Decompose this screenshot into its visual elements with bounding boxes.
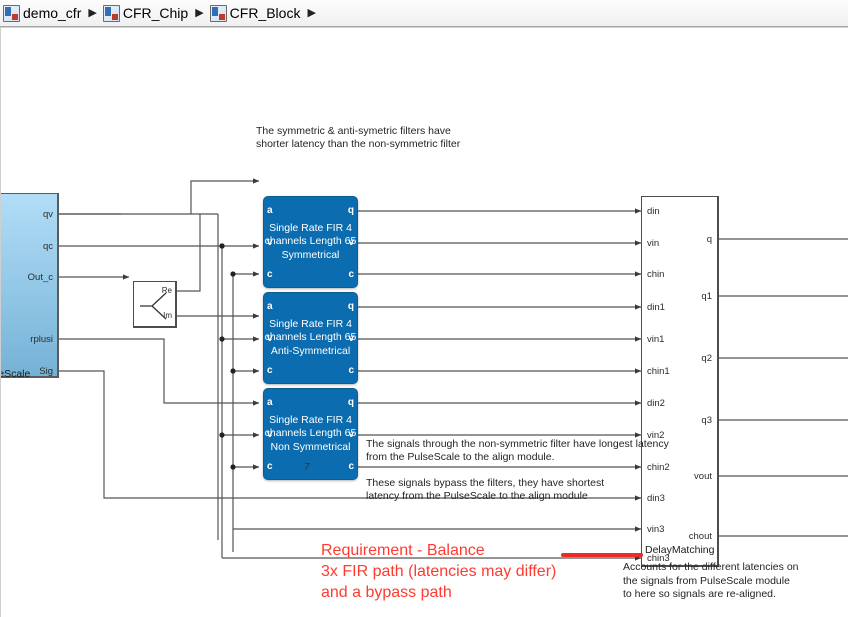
port-label-q3: q3: [701, 416, 712, 426]
breadcrumb-item-label: CFR_Block: [230, 5, 301, 21]
block-fir-non-symmetrical-text: Single Rate FIR 4 channels Length 65 Non…: [264, 414, 357, 455]
port-label-v-in: v: [267, 334, 273, 344]
port-label-c-in: c: [267, 366, 273, 376]
port-label-c-in: c: [267, 270, 273, 280]
port-label-chin2: chin2: [647, 463, 670, 473]
port-label-q1: q1: [701, 292, 712, 302]
port-label-q-out: q: [348, 302, 354, 312]
port-label-v-out: v: [348, 238, 354, 248]
block-caption-fir-non-symmetrical: 7: [304, 462, 310, 473]
port-label-vin: vin: [647, 239, 659, 249]
block-caption-delay-matching: DelayMatching: [645, 544, 714, 556]
block-pulse-scale[interactable]: qv qc Out_c rplusi Sig: [0, 193, 59, 378]
port-label-din3: din3: [647, 494, 665, 504]
port-label-vin1: vin1: [647, 335, 664, 345]
block-fir-non-symmetrical[interactable]: Single Rate FIR 4 channels Length 65 Non…: [263, 388, 358, 480]
complex-split-glyph: [138, 288, 174, 324]
port-label-vout: vout: [694, 472, 712, 482]
block-complex-to-real-imag[interactable]: Re Im: [133, 281, 177, 328]
annotation-filter-latency: The symmetric & anti-symetric filters ha…: [256, 125, 460, 151]
port-label-c-out: c: [348, 462, 354, 472]
simulink-model-icon: [3, 5, 20, 22]
port-label-out_c: Out_c: [28, 273, 53, 283]
port-label-v-in: v: [267, 430, 273, 440]
annotation-bypass-latency: These signals bypass the filters, they h…: [366, 477, 604, 503]
breadcrumb-item-cfr_chip[interactable]: CFR_Chip ▶: [103, 0, 210, 26]
port-label-rplusi: rplusi: [30, 335, 53, 345]
chevron-right-icon: ▶: [195, 8, 203, 19]
port-label-sig: Sig: [39, 367, 53, 377]
port-label-chin1: chin1: [647, 367, 670, 377]
breadcrumb-item-demo_cfr[interactable]: demo_cfr ▶: [3, 0, 103, 26]
simulink-model-icon: [103, 5, 120, 22]
port-label-q2: q2: [701, 354, 712, 364]
block-fir-symmetrical-text: Single Rate FIR 4 channels Length 65 Sym…: [264, 222, 357, 263]
port-label-q: q: [707, 235, 712, 245]
port-label-c-out: c: [348, 366, 354, 376]
annotation-non-symmetric-latency: The signals through the non-symmetric fi…: [366, 438, 669, 464]
port-label-chout: chout: [689, 532, 712, 542]
block-delay-matching[interactable]: din vin chin din1 vin1 chin1 din2 vin2 c…: [641, 196, 719, 567]
port-label-c-in: c: [267, 462, 273, 472]
breadcrumb-bar: demo_cfr ▶ CFR_Chip ▶ CFR_Block ▶: [0, 0, 848, 27]
port-label-a: a: [267, 398, 273, 408]
requirement-pointer-line: [561, 553, 643, 557]
port-label-qv: qv: [43, 210, 53, 220]
port-label-v-out: v: [348, 430, 354, 440]
block-fir-anti-symmetrical-text: Single Rate FIR 4 channels Length 65 Ant…: [264, 318, 357, 359]
block-caption-pulse-scale: seScale: [0, 368, 30, 380]
port-label-vin3: vin3: [647, 525, 664, 535]
port-label-v-in: v: [267, 238, 273, 248]
port-label-a: a: [267, 302, 273, 312]
simulink-model-icon: [210, 5, 227, 22]
block-fir-anti-symmetrical[interactable]: Single Rate FIR 4 channels Length 65 Ant…: [263, 292, 358, 384]
port-label-q-out: q: [348, 206, 354, 216]
chevron-right-icon: ▶: [88, 8, 96, 19]
breadcrumb-item-label: CFR_Chip: [123, 5, 188, 21]
port-label-qc: qc: [43, 242, 53, 252]
block-fir-symmetrical[interactable]: Single Rate FIR 4 channels Length 65 Sym…: [263, 196, 358, 288]
breadcrumb-item-label: demo_cfr: [23, 5, 81, 21]
model-canvas[interactable]: qv qc Out_c rplusi Sig seScale Re Im Sin…: [0, 27, 848, 617]
port-label-a: a: [267, 206, 273, 216]
port-label-din2: din2: [647, 399, 665, 409]
port-label-din: din: [647, 207, 660, 217]
port-label-din1: din1: [647, 303, 665, 313]
port-label-chin: chin: [647, 270, 664, 280]
chevron-right-icon: ▶: [307, 8, 315, 19]
signal-wires: [1, 28, 848, 617]
simulink-editor-window: demo_cfr ▶ CFR_Chip ▶ CFR_Block ▶: [0, 0, 848, 617]
annotation-requirement: Requirement - Balance 3x FIR path (laten…: [321, 540, 556, 603]
port-label-c-out: c: [348, 270, 354, 280]
annotation-delay-matching-description: Accounts for the different latencies on …: [623, 561, 799, 602]
breadcrumb-item-cfr_block[interactable]: CFR_Block ▶: [210, 0, 322, 26]
port-label-q-out: q: [348, 398, 354, 408]
port-label-v-out: v: [348, 334, 354, 344]
